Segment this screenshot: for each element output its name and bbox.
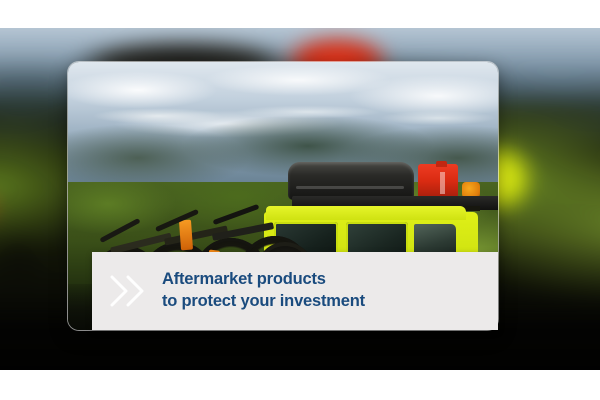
slide-canvas: Aftermarket products to protect your inv… [0,0,600,400]
caption-text: Aftermarket products to protect your inv… [162,269,365,313]
letterbox-top-bar [0,0,600,28]
jerry-can-label [440,172,445,194]
caption-panel: Aftermarket products to protect your inv… [92,252,498,330]
bike-orange-fork [179,220,193,251]
caption-line-2: to protect your investment [162,291,365,313]
jerry-can-cap [436,161,447,167]
double-chevron-right-icon [92,271,162,311]
caption-line-1: Aftermarket products [162,269,365,291]
card-snow-caps [68,104,498,130]
bike-handlebar [99,218,140,243]
red-jerry-can [418,164,458,198]
bike-handlebar [155,209,199,232]
letterbox-bottom-bar [0,370,600,400]
bike-handlebar [213,204,260,225]
roof-cargo-box-trim [296,186,404,189]
roof-cargo-box [288,162,414,200]
